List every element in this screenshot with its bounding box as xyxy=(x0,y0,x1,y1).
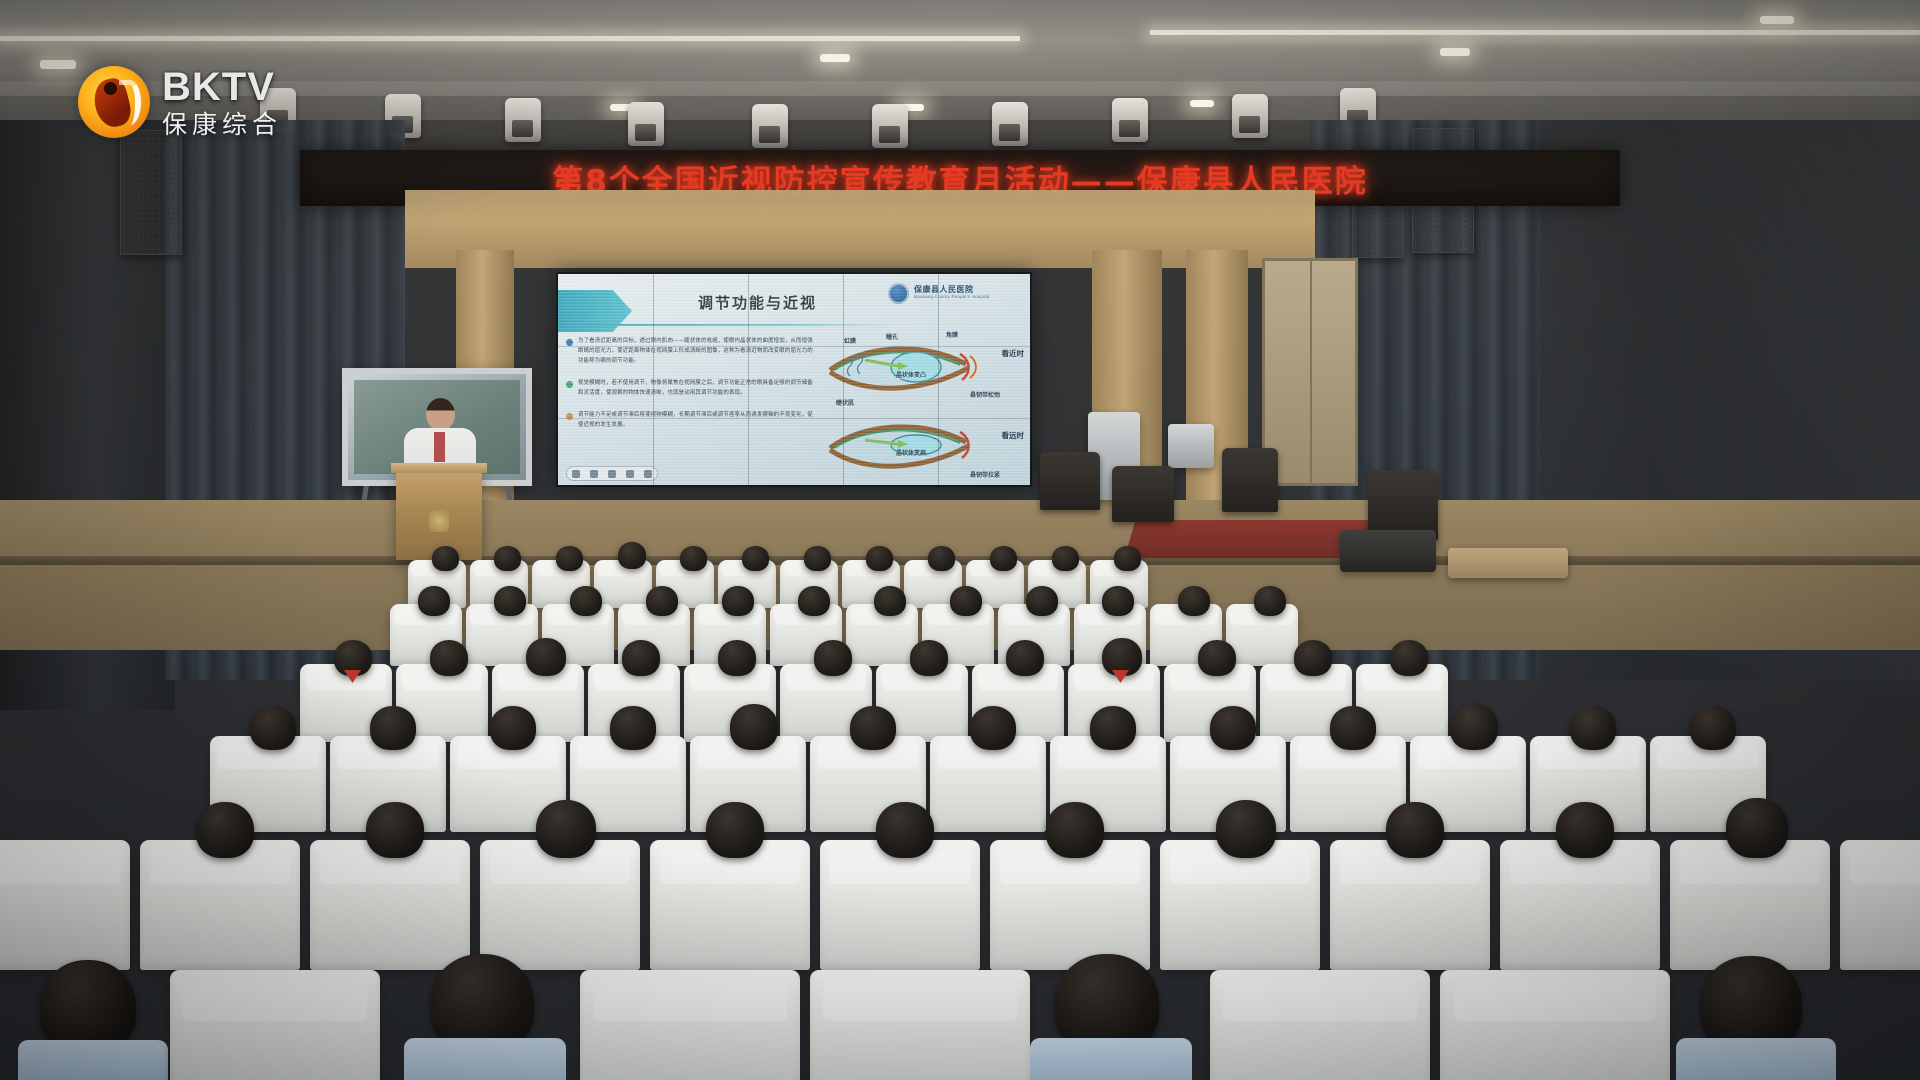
ceiling-downlight xyxy=(1440,48,1470,56)
videowall-seam xyxy=(843,274,844,485)
lectern-top xyxy=(391,463,487,473)
audience-head xyxy=(730,704,778,750)
audience-head xyxy=(804,546,831,571)
videowall-seam xyxy=(653,274,654,485)
audience-head xyxy=(526,638,566,676)
phoenix-bird-icon xyxy=(78,66,150,138)
ceiling-downlight xyxy=(820,54,850,62)
audience-head xyxy=(1026,586,1058,616)
eraser-icon[interactable] xyxy=(626,470,634,478)
eye-label-lens-convex: 晶状体变凸 xyxy=(896,370,926,379)
stage-spotlight xyxy=(992,102,1028,146)
lower-third: 小到中雨 18～23℃ 保康新闻 BAOKANG NEWS 全媒体记者 余夕雯 … xyxy=(0,810,1920,1080)
audience-head xyxy=(1690,706,1736,750)
audience-head xyxy=(866,546,893,571)
audience-head xyxy=(1178,586,1210,616)
eye-accommodation-diagram: 虹膜 瞳孔 角膜 晶状体变凸 晶状体变扁 睫状肌 悬韧带松弛 悬韧带拉紧 看近时… xyxy=(820,330,1030,485)
pen-icon[interactable] xyxy=(608,470,616,478)
ceiling-downlight xyxy=(40,60,76,69)
audience-head xyxy=(490,706,536,750)
audience-head xyxy=(1090,706,1136,750)
channel-watermark: BKTV 保康综合 xyxy=(78,56,318,148)
audience-head xyxy=(950,586,982,616)
monitor-device xyxy=(1168,424,1214,468)
stage-spotlight xyxy=(628,102,664,146)
flame-accent-icon xyxy=(119,80,141,125)
hospital-logo: 保康县人民医院 Baokang County People's Hospital xyxy=(888,279,1018,307)
eye-label-ciliary-muscle: 睫状肌 xyxy=(836,398,854,407)
audience-head xyxy=(622,640,660,676)
audience-head xyxy=(928,546,955,571)
eye-label-pupil: 瞳孔 xyxy=(886,332,898,341)
audience-head xyxy=(970,706,1016,750)
videowall-seam xyxy=(558,418,1030,419)
slide-bullet-text: 视觉模糊时，若不使用调节，物像将聚焦在视网膜之后，调节功能正常的眼具备足够的调节… xyxy=(578,378,816,398)
bullet-dot-icon xyxy=(566,339,573,346)
audience-head xyxy=(646,586,678,616)
stage-spotlight xyxy=(505,98,541,142)
audience-head xyxy=(610,706,656,750)
audience-head xyxy=(680,546,707,571)
eye-diagram-svg xyxy=(820,330,1030,485)
eye-caption-near: 看近时 xyxy=(1002,348,1025,359)
channel-watermark-en: BKTV xyxy=(162,67,282,107)
stage-spotlight xyxy=(872,104,908,148)
slide-title-rule xyxy=(566,324,896,326)
hospital-emblem-icon xyxy=(888,283,909,304)
audience-head xyxy=(742,546,769,571)
audience-head xyxy=(850,706,896,750)
audience-head xyxy=(1210,706,1256,750)
videowall-seam xyxy=(558,346,1030,347)
videowall-seam xyxy=(748,274,749,485)
audience-head xyxy=(494,586,526,616)
audience-head xyxy=(814,640,852,676)
stage-spotlight xyxy=(1232,94,1268,138)
audience-head xyxy=(1294,640,1332,676)
eye-label-cornea: 角膜 xyxy=(946,330,958,339)
audience-head xyxy=(1052,546,1079,571)
ceiling-light-strip xyxy=(0,36,1020,41)
hospital-name-en: Baokang County People's Hospital xyxy=(914,295,990,300)
presenter-head xyxy=(426,398,455,431)
ceiling-downlight xyxy=(1190,100,1214,107)
presenter-tie xyxy=(434,432,445,462)
lectern-emblem-icon xyxy=(429,510,449,532)
hanging-speaker xyxy=(120,130,182,255)
audience-head xyxy=(1390,640,1428,676)
slide-bullet: 视觉模糊时，若不使用调节，物像将聚焦在视网膜之后，调节功能正常的眼具备足够的调节… xyxy=(566,378,816,398)
audience-head xyxy=(1254,586,1286,616)
audience-head xyxy=(1450,704,1498,750)
channel-watermark-cn: 保康综合 xyxy=(162,112,282,137)
back-wall-wood-band xyxy=(405,190,1315,268)
ceiling-light-strip xyxy=(1150,30,1920,35)
audience-head xyxy=(1330,706,1376,750)
audience-head xyxy=(570,586,602,616)
audience-head xyxy=(722,586,754,616)
pointer-icon[interactable] xyxy=(644,470,652,478)
slide-bullet-text: 为了看清近距离的目标，通过眼内肌肉——睫状体的收缩，使眼内晶状体的曲度增加，从而… xyxy=(578,336,816,366)
eye-label-iris: 虹膜 xyxy=(844,336,856,345)
audience-head xyxy=(718,640,756,676)
audience-head xyxy=(618,542,646,569)
audience-head xyxy=(494,546,521,571)
audience-head xyxy=(990,546,1017,571)
audience-head xyxy=(370,706,416,750)
audience-head xyxy=(1114,546,1141,571)
audience-head xyxy=(250,706,296,750)
eye-label-lens-flat: 晶状体变扁 xyxy=(896,448,926,457)
slide-bullet-text: 调节能力不足或调节滞后将使视物模糊，长期调节滞后或调节痉挛从而诱发眼轴的不良变化… xyxy=(578,410,816,430)
audience-head xyxy=(1006,640,1044,676)
audience-head xyxy=(1102,586,1134,616)
videowall-toolbar[interactable] xyxy=(566,466,658,481)
audience-head xyxy=(430,640,468,676)
slide-bullet: 为了看清近距离的目标，通过眼内肌肉——睫状体的收缩，使眼内晶状体的曲度增加，从而… xyxy=(566,336,816,366)
audience-head xyxy=(556,546,583,571)
bullet-dot-icon xyxy=(566,381,573,388)
presentation-video-wall: 调节功能与近视 保康县人民医院 Baokang County People's … xyxy=(556,272,1032,487)
audience-head xyxy=(432,546,459,571)
chair xyxy=(1040,452,1100,510)
audience-head xyxy=(1570,706,1616,750)
chair xyxy=(1112,466,1174,522)
stage-spotlight xyxy=(752,104,788,148)
eye-label-zonule-taut: 悬韧带拉紧 xyxy=(970,470,1000,479)
slide-title: 调节功能与近视 xyxy=(698,292,817,313)
eye-label-zonule-relaxed: 悬韧带松弛 xyxy=(970,390,1000,399)
settings-icon[interactable] xyxy=(572,470,580,478)
videowall-seam xyxy=(938,274,939,485)
audience-head xyxy=(910,640,948,676)
eye-caption-far: 看远时 xyxy=(1002,430,1025,441)
stage-spotlight xyxy=(1112,98,1148,142)
broadcast-frame: 第8个全国近视防控宣传教育月活动——保康县人民医院 调节功能与近视 保康县人民医… xyxy=(0,0,1920,1080)
ceiling-downlight xyxy=(1760,16,1794,24)
audience-head xyxy=(1198,640,1236,676)
slide-bullet: 调节能力不足或调节滞后将使视物模糊，长期调节滞后或调节痉挛从而诱发眼轴的不良变化… xyxy=(566,410,816,430)
grid-icon[interactable] xyxy=(590,470,598,478)
audience-head xyxy=(874,586,906,616)
audience-head xyxy=(418,586,450,616)
audience-head xyxy=(798,586,830,616)
slide-bullet-list: 为了看清近距离的目标，通过眼内肌肉——睫状体的收缩，使眼内晶状体的曲度增加，从而… xyxy=(566,336,816,442)
chair xyxy=(1222,448,1278,512)
